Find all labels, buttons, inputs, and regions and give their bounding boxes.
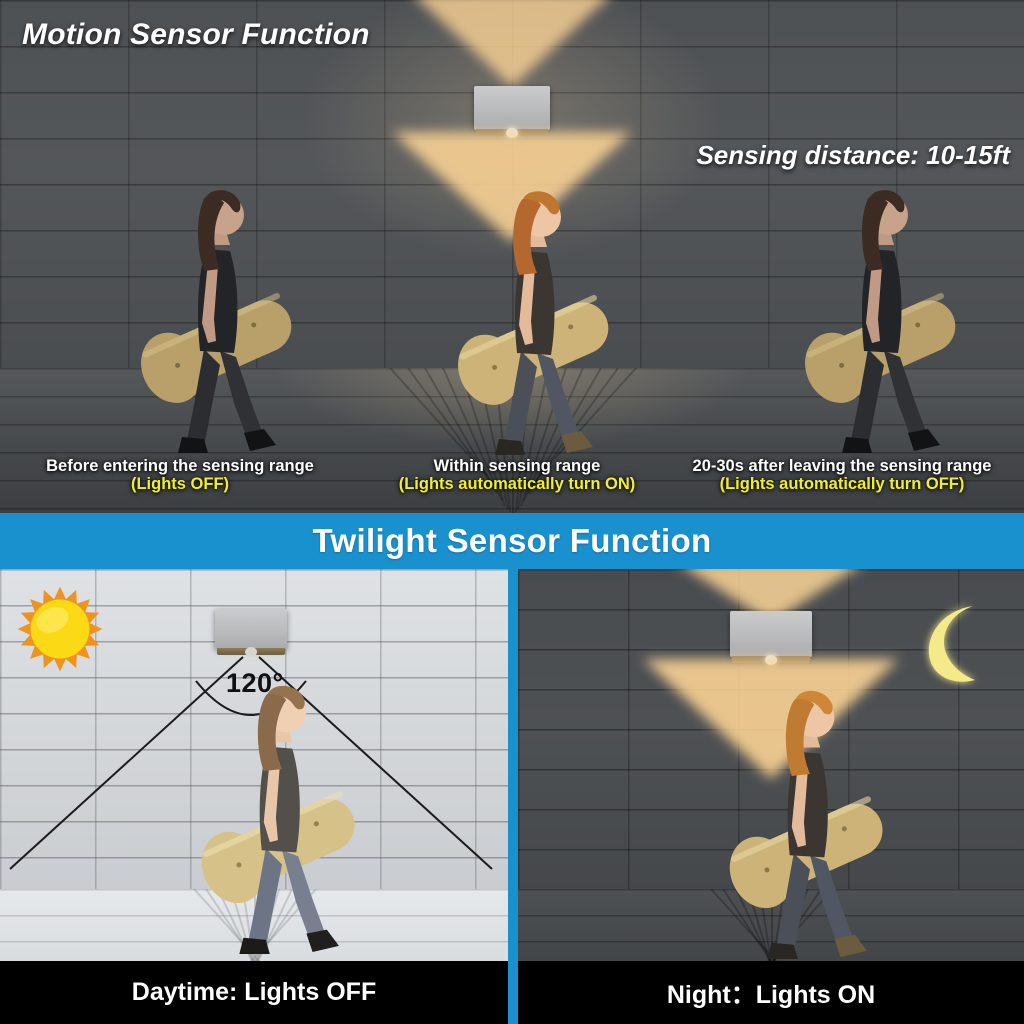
night-caption: Night：Lights ON [667,975,875,1011]
person-silhouette-dark-after [772,153,992,453]
caption-within: Within sensing range (Lights automatical… [352,457,682,494]
sun-icon [14,583,106,675]
daytime-caption: Daytime: Lights OFF [132,978,376,1007]
moon-icon [903,592,1003,692]
detection-angle-label: 120° [226,668,284,699]
light-beam-up [410,0,614,87]
lamp-body-night [730,611,812,657]
caption-before: Before entering the sensing range (Light… [10,457,350,494]
lamp-body [474,86,550,130]
infographic-canvas: Motion Sensor Function Sensing distance:… [0,0,1024,1024]
twilight-banner-title: Twilight Sensor Function [313,522,712,560]
caption-after: 20-30s after leaving the sensing range (… [660,457,1024,494]
caption-within-status: (Lights automatically turn ON) [352,475,682,493]
caption-before-status: (Lights OFF) [10,475,350,493]
motion-sensor-panel: Motion Sensor Function Sensing distance:… [0,0,1024,513]
panel-divider [508,569,518,1024]
person-silhouette-lit [425,155,645,455]
caption-within-headline: Within sensing range [352,457,682,475]
walking-person-after [772,153,992,453]
twilight-panels: Daytime: Lights OFF [0,569,1024,1024]
motion-title: Motion Sensor Function [22,18,370,52]
twilight-section-banner: Twilight Sensor Function [0,513,1024,569]
night-caption-bar: Night：Lights ON [518,961,1024,1024]
lamp-body-day [215,609,287,649]
caption-after-status: (Lights automatically turn OFF) [660,475,1024,493]
walking-person-before [108,153,328,453]
daytime-caption-bar: Daytime: Lights OFF [0,961,508,1024]
walking-person-within [425,155,645,455]
caption-after-headline: 20-30s after leaving the sensing range [660,457,1024,475]
person-silhouette-dark [108,153,328,453]
walking-person-night [693,654,923,959]
caption-before-headline: Before entering the sensing range [10,457,350,475]
person-silhouette-night [693,654,923,959]
